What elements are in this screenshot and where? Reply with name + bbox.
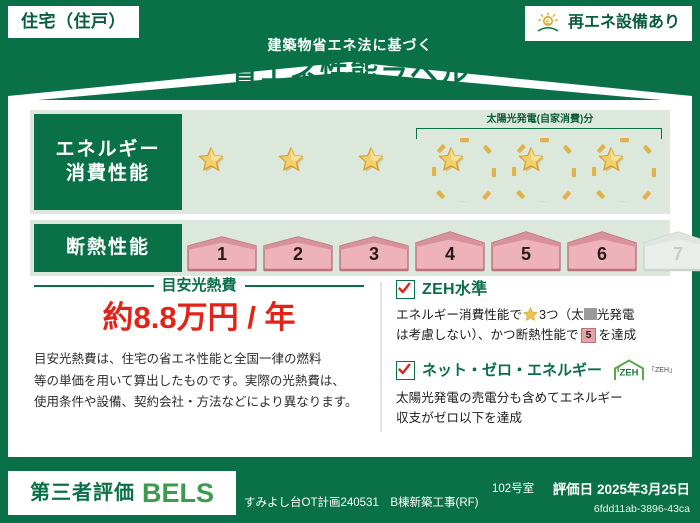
- zeh-body-mid2: 光発電: [597, 308, 635, 322]
- insulation-level-number: 5: [488, 245, 564, 263]
- evaluation-date: 評価日 2025年3月25日: [553, 483, 690, 497]
- utility-cost-amount: 約8.8万円 / 年: [34, 302, 364, 333]
- star-base: [344, 134, 424, 206]
- svg-text:ZEH: ZEH: [620, 367, 639, 378]
- energy-performance-row: エネルギー 消費性能 太陽光発電(自家消費)分: [30, 110, 670, 214]
- check-icon: [398, 282, 411, 295]
- utility-cost-heading: 目安光熱費: [34, 278, 364, 293]
- zeh-standard-title: ZEH水準: [422, 282, 488, 298]
- zeh-netzero-header: ネット・ゼロ・エネルギー ZEH 「ZEH」: [396, 359, 676, 382]
- cost-note-line-3: 使用条件や設備、契約会社・方法などにより異なります。: [34, 392, 364, 414]
- content-panel: エネルギー 消費性能 太陽光発電(自家消費)分 断熱性能 1234567: [8, 100, 692, 457]
- heading-rule-left: [34, 285, 154, 287]
- star-icon: [352, 138, 416, 202]
- checkbox-checked-icon-2: [396, 361, 415, 380]
- utility-cost-note: 目安光熱費は、住宅の省エネ性能と全国一律の燃料 等の単価を用いて算出したものです…: [34, 349, 364, 414]
- vertical-divider: [380, 282, 382, 432]
- zeh-standard-body: エネルギー消費性能で3つ（太光発電は考慮しない）、かつ断熱性能で5を達成: [396, 305, 676, 346]
- star-icon: [512, 138, 576, 202]
- utility-cost-heading-text: 目安光熱費: [162, 278, 237, 293]
- zeh-netzero-body: 太陽光発電の売電分も含めてエネルギー 収支がゼロ以下を達成: [396, 388, 676, 429]
- insulation-level-3: 3: [336, 235, 412, 272]
- insulation-level-number: 6: [564, 245, 640, 263]
- energy-label-line2: 消費性能: [66, 162, 150, 186]
- footer-bar: 第三者評価 BELS すみよし台OT計画240531 B棟新築工事(RF) 10…: [0, 463, 700, 523]
- checkbox-checked-icon: [396, 280, 415, 299]
- zeh-body-line2-post: を達成: [598, 328, 636, 342]
- energy-star-rating: [184, 134, 666, 206]
- star-icon: [272, 138, 336, 202]
- insulation-level-number: 3: [336, 245, 412, 263]
- insulation-level-5: 5: [488, 230, 564, 272]
- svg-text:E: E: [546, 20, 550, 26]
- energy-label-line1: エネルギー: [55, 138, 160, 162]
- zeh-netzero-title: ネット・ゼロ・エネルギー: [422, 363, 602, 378]
- star-solar: [584, 134, 664, 206]
- star-icon: [432, 138, 496, 202]
- zeh-section: ZEH水準 エネルギー消費性能で3つ（太光発電は考慮しない）、かつ断熱性能で5を…: [396, 280, 676, 442]
- zeh-body-pre: エネルギー消費性能で: [396, 308, 522, 322]
- insulation-performance-label: 断熱性能: [34, 224, 182, 272]
- heading-rule-right: [245, 285, 365, 287]
- building-type-tag: 住宅（住戸）: [8, 6, 139, 38]
- insulation-label-text: 断熱性能: [66, 236, 150, 260]
- certificate-id: 6fdd11ab-3896-43ca: [594, 504, 690, 515]
- property-name: すみよし台OT計画240531 B棟新築工事(RF): [244, 495, 512, 511]
- bels-prefix: 第三者評価: [30, 483, 135, 503]
- netzero-body-line-1: 太陽光発電の売電分も含めてエネルギー: [396, 388, 676, 408]
- insulation-level-number: 2: [260, 245, 336, 263]
- insulation-level-4: 4: [412, 230, 488, 272]
- insulation-level-number: 4: [412, 245, 488, 263]
- energy-label-root: 住宅（住戸） E 再エネ設備あり 建築物省エネ法に基づく 省エネ性能ラベル エネ…: [0, 0, 700, 523]
- check-icon-2: [398, 363, 411, 376]
- insulation-level-badge: 5: [581, 328, 597, 343]
- zeh-netzero-block: ネット・ゼロ・エネルギー ZEH 「ZEH」 太陽光発電の売電分も含めてエネルギ…: [396, 359, 676, 429]
- cost-note-line-1: 目安光熱費は、住宅の省エネ性能と全国一律の燃料: [34, 349, 364, 371]
- netzero-body-line-2: 収支がゼロ以下を達成: [396, 408, 676, 428]
- cost-note-line-2: 等の単価を用いて算出したものです。実際の光熱費は、: [34, 371, 364, 393]
- zeh-standard-header: ZEH水準: [396, 280, 676, 299]
- insulation-level-2: 2: [260, 235, 336, 272]
- performance-section: エネルギー 消費性能 太陽光発電(自家消費)分 断熱性能 1234567: [30, 110, 670, 282]
- redacted-character: [584, 308, 597, 320]
- insulation-rating-body: 1234567: [182, 224, 666, 272]
- zeh-body-mid: 3つ（太: [539, 308, 584, 322]
- energy-rating-body: 太陽光発電(自家消費)分: [182, 114, 666, 210]
- insulation-level-7: 7: [640, 230, 700, 272]
- star-solar: [504, 134, 584, 206]
- solar-generation-note: 太陽光発電(自家消費)分: [418, 115, 662, 125]
- star-base: [264, 134, 344, 206]
- zeh-standard-block: ZEH水準 エネルギー消費性能で3つ（太光発電は考慮しない）、かつ断熱性能で5を…: [396, 280, 676, 346]
- star-base: [184, 134, 264, 206]
- zeh-logo-mark: 「ZEH」: [648, 367, 676, 374]
- insulation-level-6: 6: [564, 230, 640, 272]
- insulation-level-1: 1: [184, 235, 260, 272]
- zeh-logo: ZEH 「ZEH」: [612, 359, 676, 382]
- bels-logo-block: 第三者評価 BELS: [8, 471, 236, 515]
- insulation-level-number: 1: [184, 245, 260, 263]
- utility-cost-block: 目安光熱費 約8.8万円 / 年 目安光熱費は、住宅の省エネ性能と全国一律の燃料…: [34, 278, 364, 414]
- zeh-house-icon: ZEH: [612, 359, 646, 382]
- insulation-level-number: 7: [640, 245, 700, 263]
- insulation-level-scale: 1234567: [184, 224, 700, 272]
- inline-star-icon: [523, 307, 538, 321]
- star-solar: [424, 134, 504, 206]
- sun-icon: E: [535, 12, 561, 34]
- bels-name: BELS: [142, 480, 214, 507]
- zeh-body-line2-pre: は考慮しない）、かつ断熱性能で: [396, 328, 579, 342]
- energy-performance-label: エネルギー 消費性能: [34, 114, 182, 210]
- renewable-badge-label: 再エネ設備あり: [568, 15, 680, 31]
- property-unit: 102号室: [492, 484, 534, 496]
- star-icon: [192, 138, 256, 202]
- renewable-equipment-badge: E 再エネ設備あり: [525, 6, 692, 41]
- star-icon: [592, 138, 656, 202]
- insulation-performance-row: 断熱性能 1234567: [30, 220, 670, 276]
